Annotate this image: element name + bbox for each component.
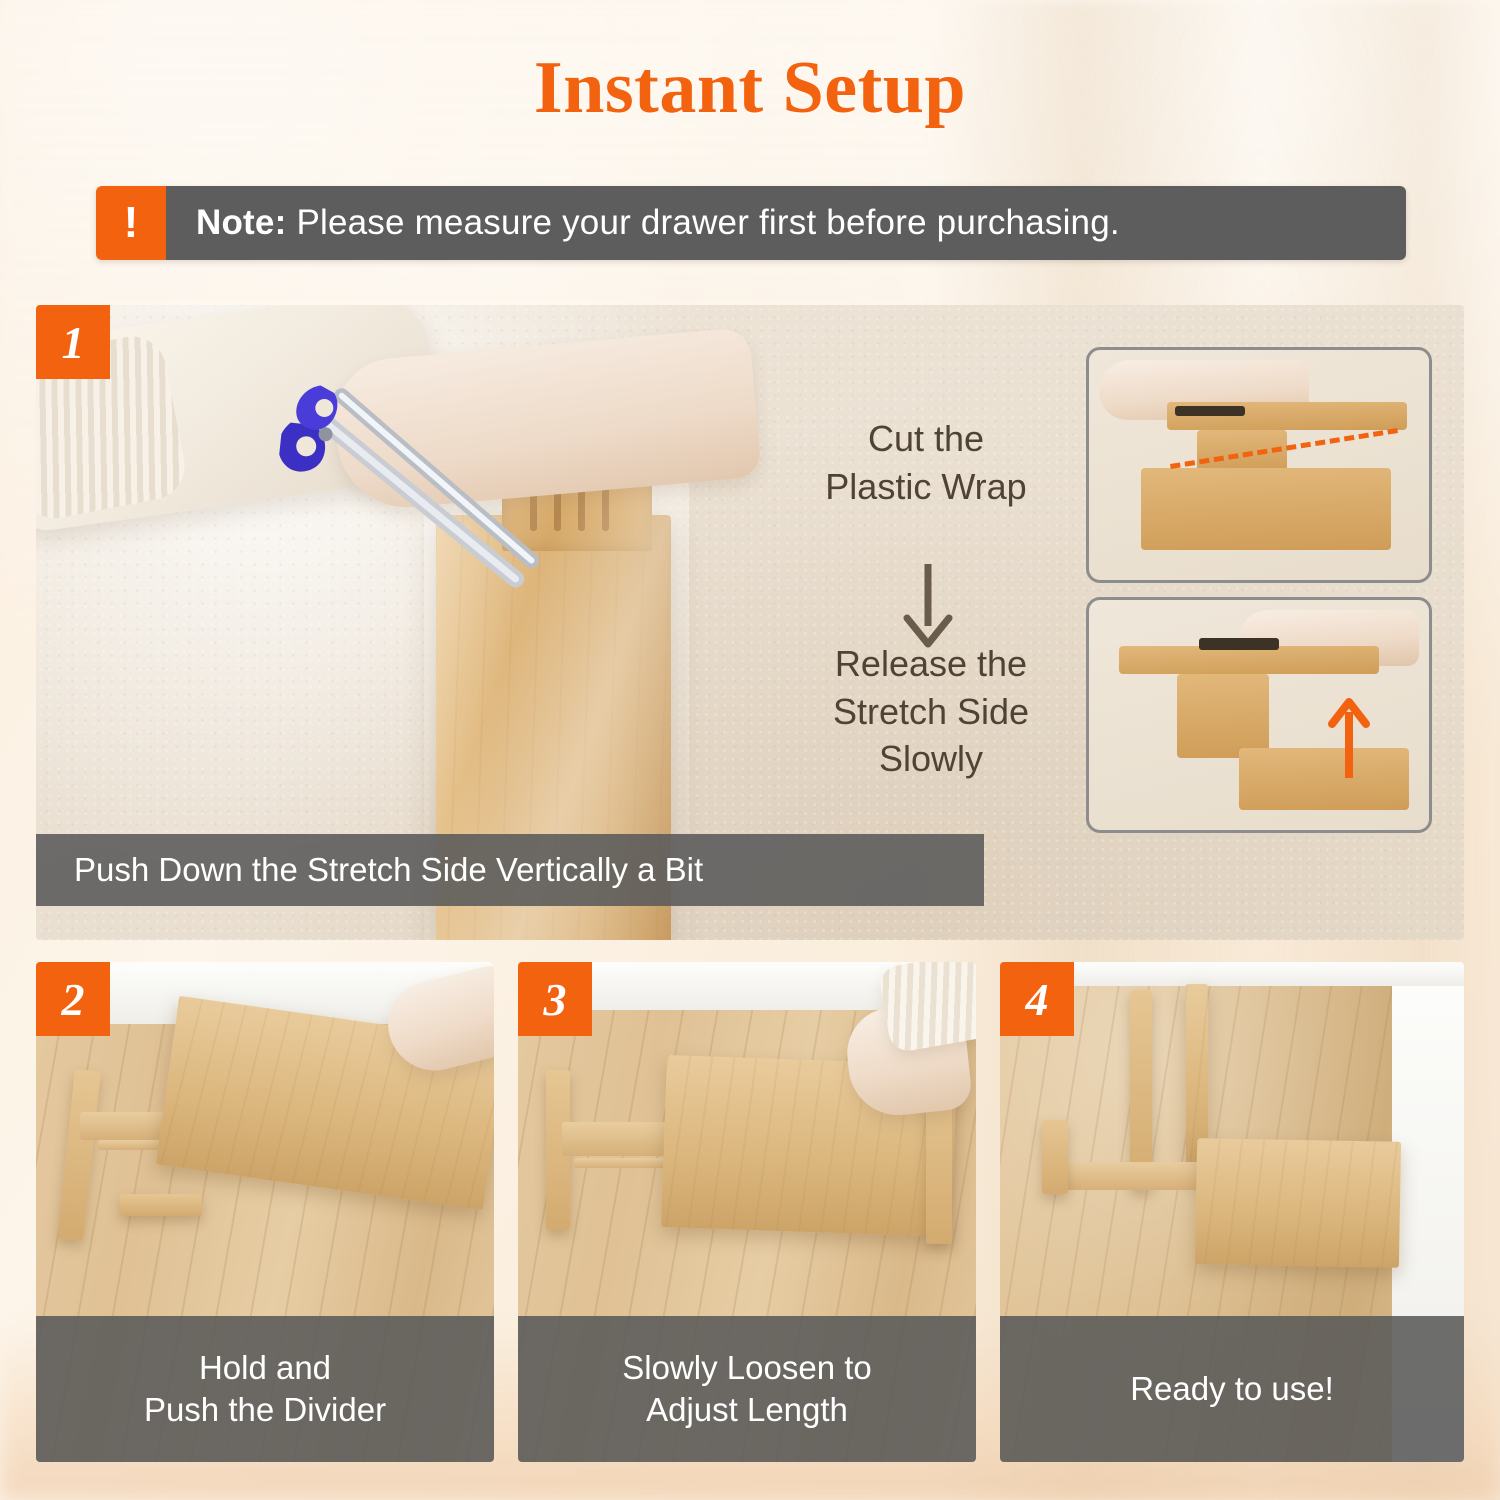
step-2-number: 2 bbox=[36, 962, 110, 1036]
step-3-panel: 3 Slowly Loosen to Adjust Length bbox=[518, 962, 976, 1462]
step-3-number: 3 bbox=[518, 962, 592, 1036]
step-2-panel: 2 Hold and Push the Divider bbox=[36, 962, 494, 1462]
divider-plank-front bbox=[1195, 1138, 1401, 1268]
note-text-container: Note: Please measure your drawer first b… bbox=[166, 186, 1406, 260]
release-text-line-2: Stretch Side bbox=[776, 688, 1086, 736]
step-1-panel: Cut the Plastic Wrap Release the Stretch… bbox=[36, 305, 1464, 940]
cut-text-line-2: Plastic Wrap bbox=[776, 463, 1076, 511]
inset-top-bar-2 bbox=[1119, 646, 1379, 674]
step-1-side-text-bottom: Release the Stretch Side Slowly bbox=[776, 640, 1086, 783]
note-banner: ! Note: Please measure your drawer first… bbox=[96, 186, 1406, 260]
scissors-icon bbox=[263, 382, 585, 642]
step-2-caption-line-2: Push the Divider bbox=[144, 1389, 386, 1431]
inset-top-bar-shadow-2 bbox=[1199, 638, 1279, 650]
step-3-caption: Slowly Loosen to Adjust Length bbox=[518, 1316, 976, 1462]
step-3-caption-line-2: Adjust Length bbox=[646, 1389, 848, 1431]
inset-cut-wrap bbox=[1086, 347, 1432, 583]
note-label: Note: bbox=[196, 203, 286, 243]
plank-grain-4b bbox=[1195, 1138, 1401, 1268]
step-4-caption: Ready to use! bbox=[1000, 1316, 1464, 1462]
release-text-line-3: Slowly bbox=[776, 735, 1086, 783]
arrow-down-icon bbox=[899, 560, 957, 650]
inset-body-2 bbox=[1239, 748, 1409, 810]
inset-top-bar-shadow bbox=[1175, 406, 1245, 416]
inset-release-wrap bbox=[1086, 597, 1432, 833]
inset-body bbox=[1141, 468, 1391, 550]
cut-text-line-1: Cut the bbox=[776, 415, 1076, 463]
step-3-caption-line-1: Slowly Loosen to bbox=[622, 1347, 871, 1389]
product-infographic: Instant Setup ! Note: Please measure you… bbox=[0, 0, 1500, 1500]
step-1-side-text-top: Cut the Plastic Wrap bbox=[776, 415, 1076, 510]
step-1-caption: Push Down the Stretch Side Vertically a … bbox=[36, 834, 984, 906]
step-2-caption-line-1: Hold and bbox=[199, 1347, 331, 1389]
divider-end-front bbox=[1042, 1120, 1068, 1194]
up-arrow-icon bbox=[1327, 696, 1371, 782]
sweater-cuff-3 bbox=[877, 962, 976, 1054]
step-4-number: 4 bbox=[1000, 962, 1074, 1036]
divider-foot-left bbox=[120, 1194, 202, 1216]
exclamation-icon: ! bbox=[96, 186, 166, 260]
step-4-panel: 4 Ready to use! bbox=[1000, 962, 1464, 1462]
note-message: Please measure your drawer first before … bbox=[296, 203, 1119, 243]
page-title: Instant Setup bbox=[0, 46, 1500, 131]
release-text-line-1: Release the bbox=[776, 640, 1086, 688]
step-1-number: 1 bbox=[36, 305, 110, 379]
divider-end-back bbox=[1130, 990, 1152, 1190]
inset-neck-2 bbox=[1177, 674, 1269, 758]
step-2-caption: Hold and Push the Divider bbox=[36, 1316, 494, 1462]
